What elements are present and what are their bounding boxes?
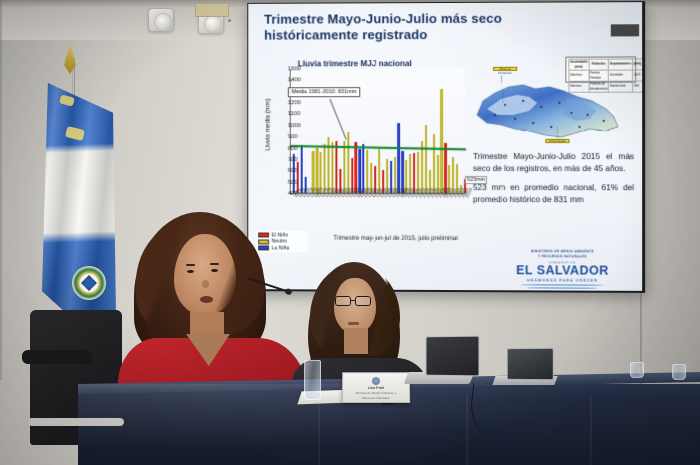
chart-mean-annotation: Media 1981-2010: 831mm [288, 87, 361, 97]
speaker-eye [211, 269, 218, 272]
map-legend-cell: Puerto Parada [589, 70, 609, 81]
map-legend-table: Acumulado (mm)EstaciónDepartamento(mm)Má… [565, 56, 636, 82]
map-legend-header: (mm) [632, 59, 642, 70]
slide-paragraph-2: 523 mm en promedio nacional, 61% del pro… [473, 182, 634, 206]
chair-armrest [22, 350, 92, 364]
map-legend-row: MáximoPuerto ParadaUsulután1121 [569, 70, 642, 81]
wall-plate [195, 3, 229, 17]
speaker-mouth [200, 296, 213, 303]
screen-dark-bar [611, 24, 639, 36]
logo-ministry-line2: Y RECURSOS NATURALES [503, 254, 622, 259]
chart-bar [398, 123, 400, 193]
flag-coat-of-arms-icon [72, 266, 106, 300]
chart-bar [335, 141, 337, 193]
slide-title: Trimestre Mayo-Junio-Julio más seco hist… [264, 10, 563, 44]
emergency-light-icon [148, 8, 174, 32]
laptop-screen[interactable] [507, 348, 554, 380]
chart-bar [440, 89, 442, 193]
chart-x-ticks: 1971197219731974197519761977197819791980… [291, 196, 466, 222]
map-legend-cell: Planes de Montecristo [589, 81, 609, 92]
slide-paragraph-1: Trimestre Mayo-Junio-Julio 2015 el más s… [473, 151, 634, 175]
panelist-eyeglasses-icon [355, 296, 371, 306]
chart-bar [324, 144, 326, 193]
nameplate-crest-icon [372, 377, 380, 385]
map-legend-row: MínimoPlanes de MontecristoSanta Ana285 [569, 81, 642, 92]
tablecloth-fold [466, 395, 468, 465]
map-legend-header-row: Acumulado (mm)EstaciónDepartamento(mm) [569, 59, 642, 70]
map-legend-cell: 285 [632, 81, 642, 92]
press-conference-scene: Trimestre Mayo-Junio-Julio más seco hist… [0, 0, 700, 465]
tablecloth-fold [590, 395, 592, 465]
panelist-mouth [348, 322, 359, 325]
chart-title: Lluvia trimestre MJJ nacional [298, 59, 412, 68]
chart-bar [343, 141, 345, 193]
tablecloth-fold [318, 395, 320, 465]
map-legend-cell: Usulután [609, 70, 633, 81]
chart-bar [433, 134, 435, 193]
map-legend-cell: 1121 [632, 70, 642, 81]
slide-body-text: Trimestre Mayo-Junio-Julio 2015 el más s… [473, 151, 634, 213]
panelist-neck [344, 328, 368, 354]
speaker-eyebrow [210, 263, 219, 265]
logo-country: EL SALVADOR [503, 264, 622, 277]
chart-y-axis-label: Lluvia media (mm) [265, 89, 272, 161]
marn-logo: MINISTERIO DE MEDIO AMBIENTE Y RECURSOS … [503, 249, 622, 286]
map-legend-header: Departamento [609, 59, 633, 70]
wall-screw [228, 19, 231, 22]
panelist-eyeglasses-icon [335, 296, 351, 306]
chart-bar [444, 143, 446, 193]
map-legend-header: Acumulado (mm) [569, 59, 589, 70]
map-legend-cell: Mínimo [569, 81, 589, 92]
water-glass [630, 362, 644, 378]
map-legend-cell: Máximo [569, 70, 589, 81]
speaker-nose [202, 280, 209, 288]
presentation-slide: Trimestre Mayo-Junio-Julio más seco hist… [248, 2, 642, 291]
rainfall-map: Planes de Montecristo Puerto Parada Acum… [471, 54, 638, 151]
wall-seam-left [0, 0, 2, 380]
chart-bar [331, 142, 333, 193]
chart-bar [362, 144, 364, 193]
map-legend-header: Estación [589, 59, 609, 70]
map-pin-max: Planes de Montecristo [493, 67, 517, 71]
speaker-eyebrow [186, 264, 195, 266]
water-glass [672, 364, 686, 380]
chart-bar [355, 142, 357, 192]
map-pin-min: Puerto Parada [545, 139, 569, 143]
logo-tagline: UNÁMONOS PARA CRECER [503, 278, 622, 283]
chart-bar [425, 125, 427, 193]
chair-base-rim [28, 418, 124, 426]
nameplate-role-line2: Recursos Naturales [343, 396, 409, 401]
laptop-screen[interactable] [426, 336, 480, 377]
panelist-glasses-bridge [350, 300, 356, 301]
chart-footnote: Trimestre may-jun-jul de 2015, julio pre… [333, 235, 458, 242]
water-glass [304, 360, 321, 400]
logo-waves-icon [503, 284, 622, 291]
chart-bar [347, 132, 349, 193]
map-legend-cell: Santa Ana [609, 81, 633, 92]
nameplate: Lina Pohl Ministra de Medio Ambiente y R… [342, 372, 410, 403]
speaker-eye [187, 270, 194, 273]
